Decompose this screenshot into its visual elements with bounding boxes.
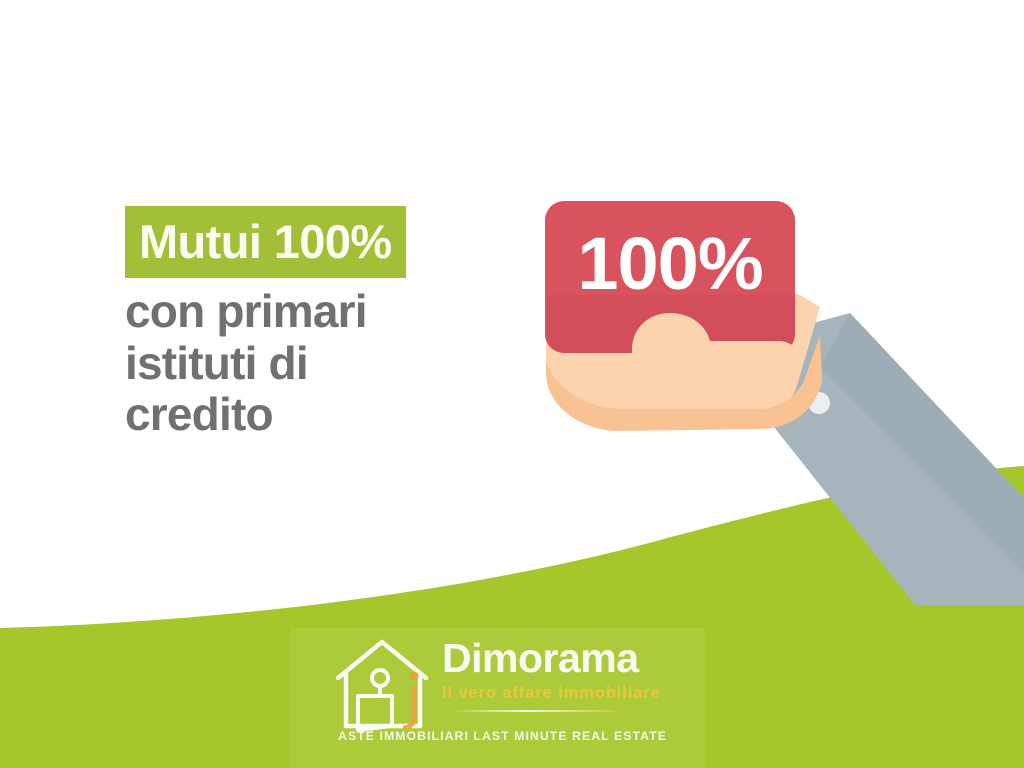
banner-canvas: 100% Mutui 100% con primari istituti di … bbox=[0, 0, 1024, 768]
headline-highlight-wrap: Mutui 100% bbox=[125, 206, 525, 278]
headline-line-2: istituti di bbox=[125, 338, 525, 390]
headline-block: Mutui 100% con primari istituti di credi… bbox=[125, 206, 525, 441]
logo-wordmark: Dimorama bbox=[442, 638, 690, 679]
orange-accent-icon bbox=[403, 672, 419, 729]
card-percent-label: 100% bbox=[577, 222, 762, 305]
headline-line-1: con primari bbox=[125, 286, 525, 338]
house-outline-icon bbox=[330, 634, 438, 734]
logo-strapline: ASTE IMMOBILIARI LAST MINUTE REAL ESTATE bbox=[330, 730, 675, 742]
headline-line-3: credito bbox=[125, 389, 525, 441]
logo-text-block: Dimorama Il vero affare immobiliare bbox=[442, 638, 690, 702]
headline-highlight: Mutui 100% bbox=[125, 206, 406, 278]
logo-divider-rule bbox=[455, 710, 615, 712]
hundred-percent-hand-illustration: 100% bbox=[520, 185, 1024, 605]
logo-tagline: Il vero affare immobiliare bbox=[442, 685, 690, 702]
